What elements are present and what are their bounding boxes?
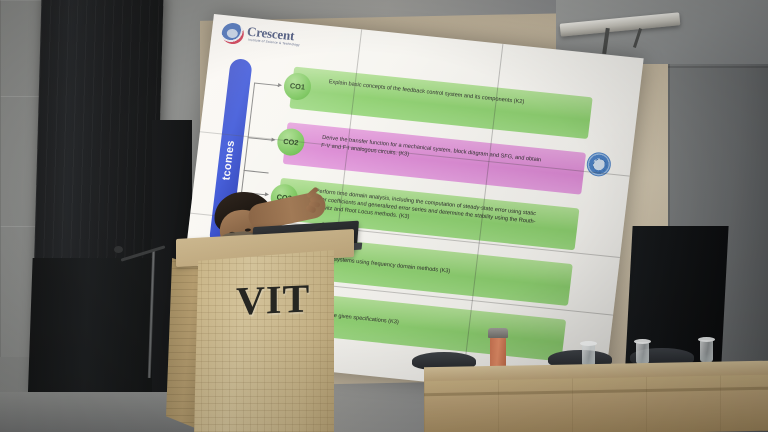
water-glass [636, 342, 649, 364]
stage-table-front [424, 375, 768, 432]
podium-logo-text: VIT [236, 274, 310, 324]
crescent-logo-mark [221, 22, 245, 45]
screenshot-root: Crescent Institute of Science & Technolo… [0, 0, 768, 432]
water-flask-cap [488, 328, 508, 338]
wall-panel [0, 0, 41, 97]
water-glass [700, 340, 713, 362]
speaker-hand [304, 188, 330, 214]
outcome-level: (K2) [513, 98, 524, 105]
outcome-level: (K3) [388, 319, 399, 326]
water-glass [582, 344, 595, 366]
crescent-logo: Crescent Institute of Science & Technolo… [220, 20, 315, 55]
connector-line [244, 82, 279, 173]
outcome-level: (K3) [439, 268, 450, 275]
microphone-head [114, 246, 123, 253]
outcome-level: (K3) [398, 214, 409, 221]
connector-arrow [278, 83, 282, 87]
lectern-podium: VIT [172, 228, 358, 432]
stage-table [424, 358, 768, 432]
